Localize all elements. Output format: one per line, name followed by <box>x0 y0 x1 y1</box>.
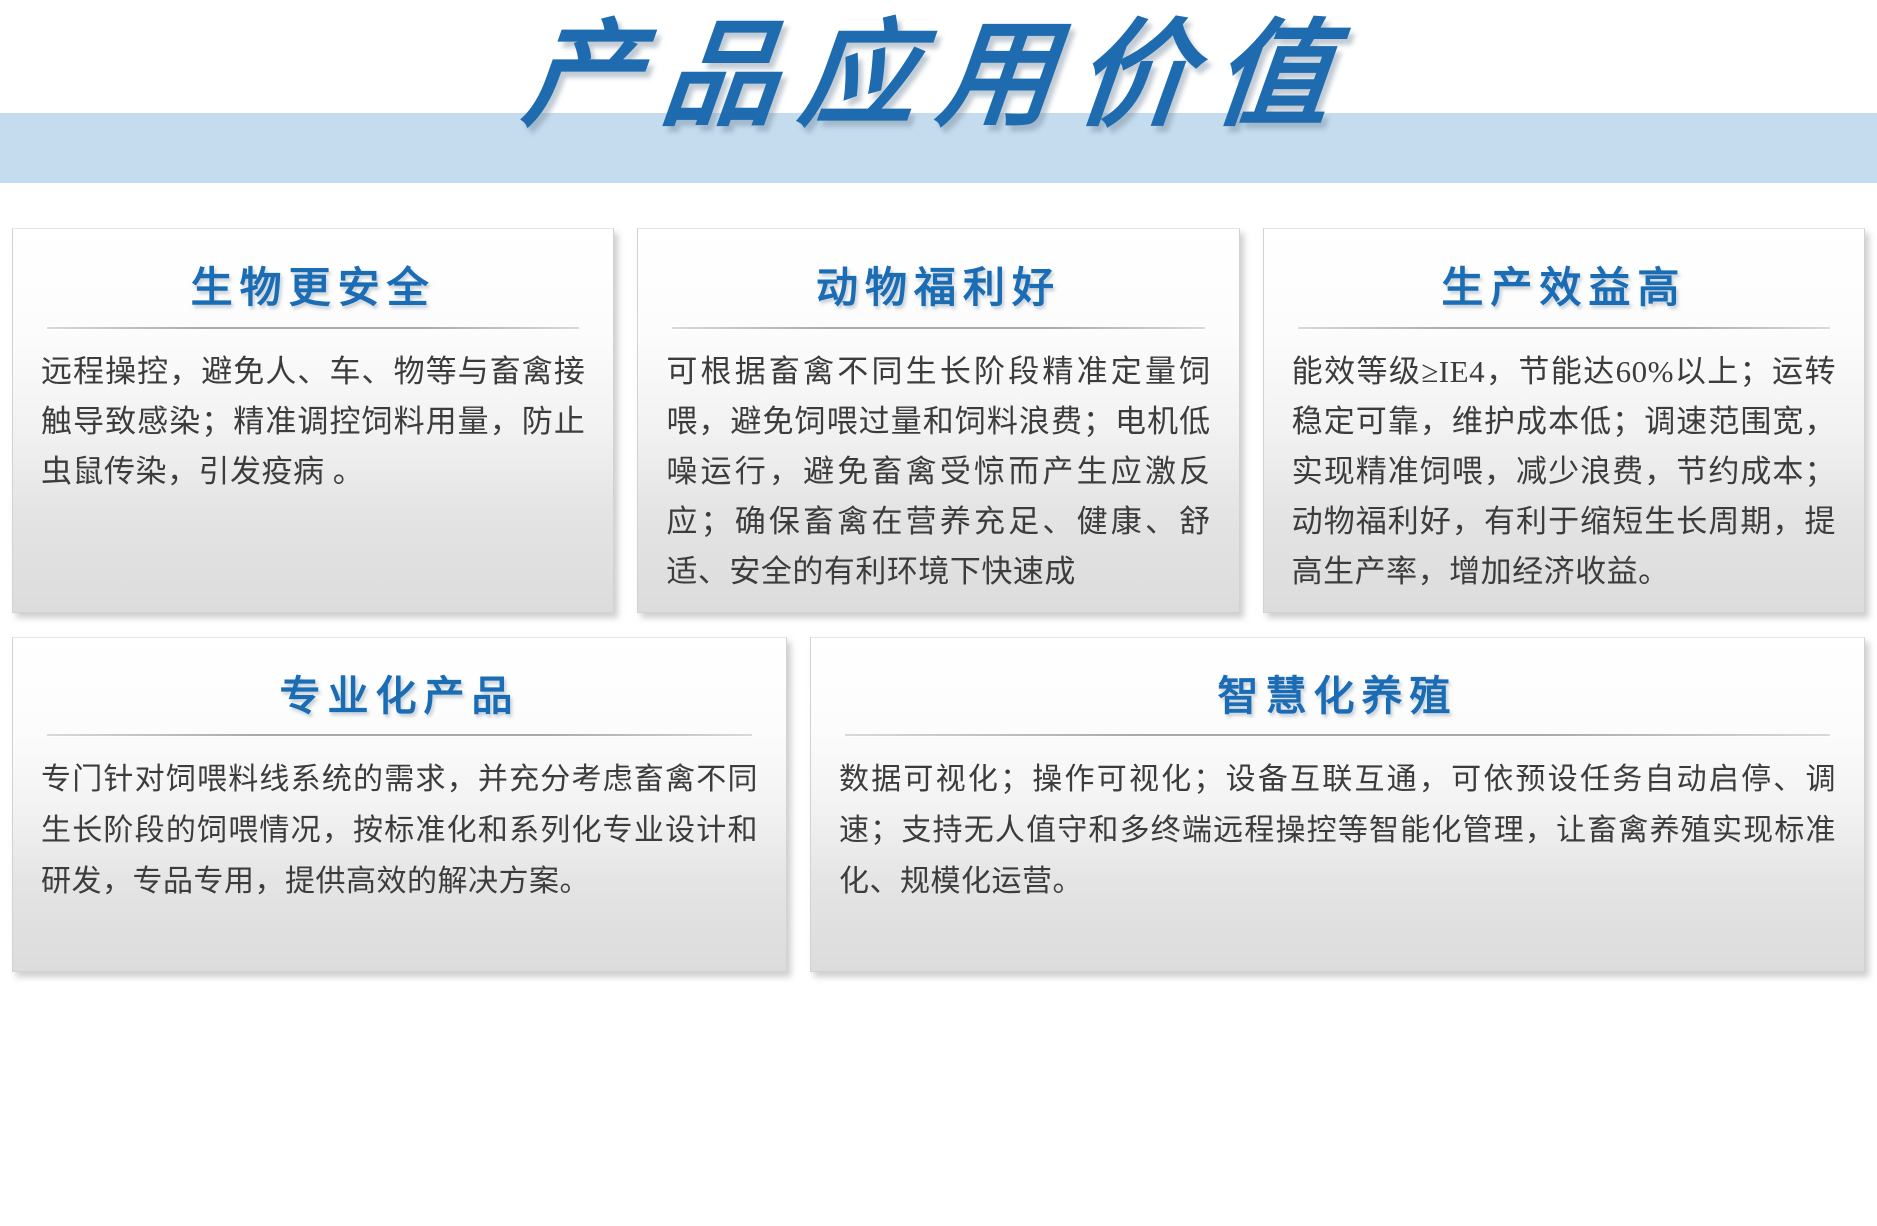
card-divider <box>47 734 752 736</box>
card-body: 可根据畜禽不同生长阶段精准定量饲喂，避免饲喂过量和饲料浪费；电机低噪运行，避免畜… <box>666 347 1210 598</box>
cards-row-top: 生物更安全 远程操控，避免人、车、物等与畜禽接触导致感染；精准调控饲料用量，防止… <box>12 228 1865 613</box>
card-title: 生产效益高 <box>1292 263 1836 313</box>
card-title: 智慧化养殖 <box>839 672 1836 720</box>
card-animal-welfare[interactable]: 动物福利好 可根据畜禽不同生长阶段精准定量饲喂，避免饲喂过量和饲料浪费；电机低噪… <box>637 228 1239 613</box>
cards-row-bottom: 专业化产品 专门针对饲喂料线系统的需求，并充分考虑畜禽不同生长阶段的饲喂情况，按… <box>12 637 1865 972</box>
card-title: 专业化产品 <box>41 672 758 720</box>
card-body: 远程操控，避免人、车、物等与畜禽接触导致感染；精准调控饲料用量，防止虫鼠传染，引… <box>41 347 585 498</box>
card-production-efficiency[interactable]: 生产效益高 能效等级≥IE4，节能达60%以上；运转稳定可靠，维护成本低；调速范… <box>1263 228 1865 613</box>
card-body: 专门针对饲喂料线系统的需求，并充分考虑畜禽不同生长阶段的饲喂情况，按标准化和系列… <box>41 754 758 907</box>
card-divider <box>845 734 1830 736</box>
card-smart-farming[interactable]: 智慧化养殖 数据可视化；操作可视化；设备互联互通，可依预设任务自动启停、调速；支… <box>810 637 1865 972</box>
card-title: 生物更安全 <box>41 263 585 313</box>
page-title: 产品应用价值 <box>0 18 1877 136</box>
card-professional-product[interactable]: 专业化产品 专门针对饲喂料线系统的需求，并充分考虑畜禽不同生长阶段的饲喂情况，按… <box>12 637 787 972</box>
card-bio-safety[interactable]: 生物更安全 远程操控，避免人、车、物等与畜禽接触导致感染；精准调控饲料用量，防止… <box>12 228 614 613</box>
card-body: 能效等级≥IE4，节能达60%以上；运转稳定可靠，维护成本低；调速范围宽，实现精… <box>1292 347 1836 598</box>
card-body: 数据可视化；操作可视化；设备互联互通，可依预设任务自动启停、调速；支持无人值守和… <box>839 754 1836 907</box>
card-divider <box>1298 327 1830 329</box>
card-title: 动物福利好 <box>666 263 1210 313</box>
card-divider <box>47 327 579 329</box>
slide-root: 产品应用价值 生物更安全 远程操控，避免人、车、物等与畜禽接触导致感染；精准调控… <box>0 0 1877 1226</box>
card-divider <box>672 327 1204 329</box>
